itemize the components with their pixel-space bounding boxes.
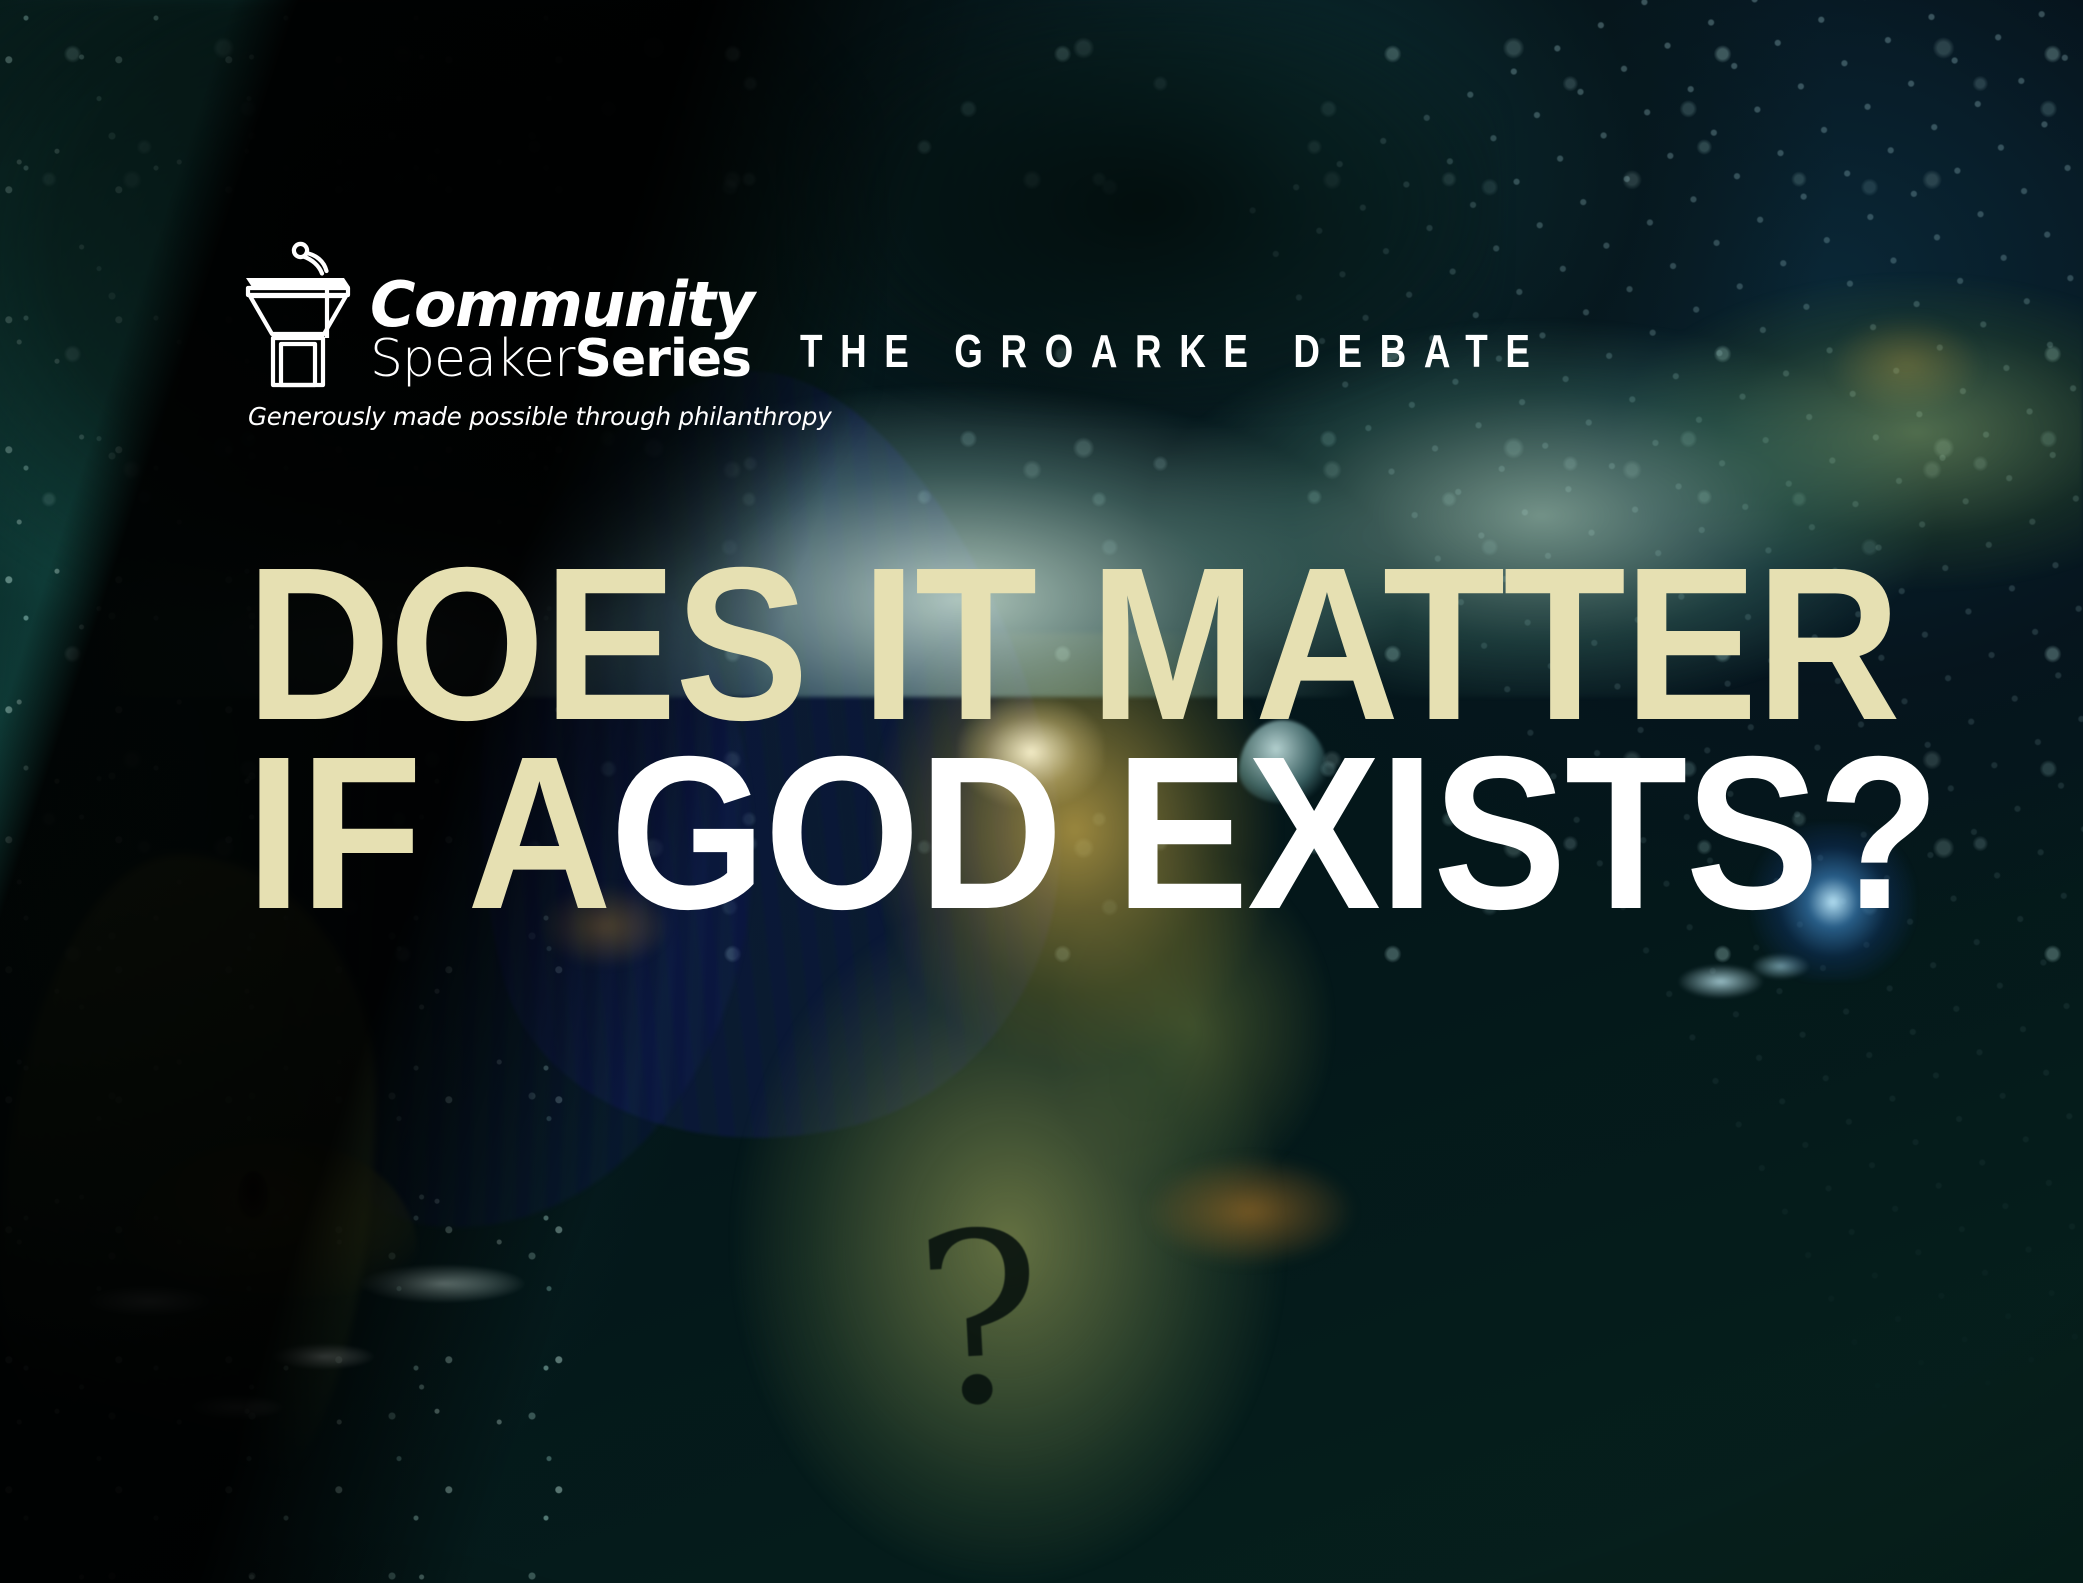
logo-tagline: Generously made possible through philant…: [248, 402, 832, 431]
logo-wordmark: Community SpeakerSeries: [370, 276, 753, 388]
logo-speaker-text: Speaker: [370, 329, 575, 389]
headline-line-1: DOES IT MATTER: [246, 555, 1755, 736]
headline-line-2: IF AGOD EXISTS?: [246, 744, 1755, 925]
poster-canvas: ?: [0, 0, 2083, 1583]
headline-if-a-text: IF A: [246, 712, 610, 955]
headline-block: DOES IT MATTER IF AGOD EXISTS?: [246, 555, 1886, 925]
headline-god-exists-text: GOD EXISTS?: [610, 712, 1938, 955]
lectern-podium-microphone-icon: [240, 238, 356, 388]
logo-community-text: Community: [370, 276, 753, 333]
question-mark-icon: ?: [910, 1200, 1048, 1441]
logo-speaker-series-text: SpeakerSeries: [370, 336, 753, 384]
community-speaker-series-logo: Community SpeakerSeries Generously made …: [240, 238, 832, 431]
logo-row: Community SpeakerSeries: [240, 238, 753, 388]
event-series-eyebrow: THE GROARKE DEBATE: [800, 324, 1548, 378]
logo-series-text: Series: [575, 329, 751, 389]
